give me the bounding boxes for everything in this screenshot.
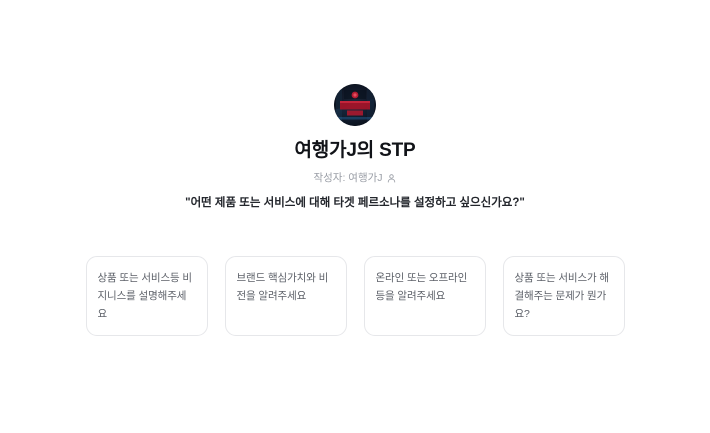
suggestion-card[interactable]: 상품 또는 서비스가 해결해주는 문제가 뭔가요? xyxy=(503,256,625,336)
avatar xyxy=(334,84,376,126)
suggestion-card-text: 상품 또는 서비스가 해결해주는 문제가 뭔가요? xyxy=(515,269,613,323)
person-icon xyxy=(387,173,397,183)
greeting-question: "어떤 제품 또는 서비스에 대해 타겟 페르소나를 설정하고 싶으신가요?" xyxy=(185,196,525,211)
bot-title: 여행가J의 STP xyxy=(295,140,416,163)
suggestion-card[interactable]: 브랜드 핵심가치와 비전을 알려주세요 xyxy=(225,256,347,336)
suggestion-card-text: 상품 또는 서비스등 비지니스를 설명해주세요 xyxy=(98,269,196,323)
suggestion-card-text: 브랜드 핵심가치와 비전을 알려주세요 xyxy=(237,269,335,305)
suggestion-card[interactable]: 온라인 또는 오프라인 등을 알려주세요 xyxy=(364,256,486,336)
author-label: 작성자: 여행가J xyxy=(313,172,382,185)
author-line: 작성자: 여행가J xyxy=(313,172,396,185)
suggestion-card[interactable]: 상품 또는 서비스등 비지니스를 설명해주세요 xyxy=(86,256,208,336)
suggestion-card-text: 온라인 또는 오프라인 등을 알려주세요 xyxy=(376,269,474,305)
suggestion-cards: 상품 또는 서비스등 비지니스를 설명해주세요 브랜드 핵심가치와 비전을 알려… xyxy=(86,256,625,336)
avatar-container xyxy=(334,84,376,126)
chatbot-intro-screen: 여행가J의 STP 작성자: 여행가J "어떤 제품 또는 서비스에 대해 타겟… xyxy=(0,0,710,433)
